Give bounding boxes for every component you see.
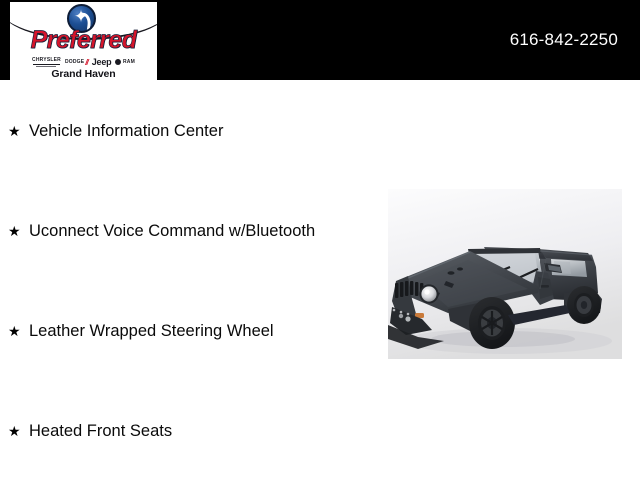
vehicle-photo-illustration (388, 189, 622, 359)
chrysler-wings-icon-secondary (36, 66, 56, 67)
list-item: ★ Vehicle Information Center (0, 100, 380, 200)
list-item: ★ Uconnect Voice Command w/Bluetooth (0, 200, 380, 300)
brand-ram: RAM (115, 59, 135, 65)
dodge-slashes-icon: // (85, 58, 87, 67)
star-bullet-icon: ★ (8, 324, 21, 338)
vehicle-photo[interactable] (388, 189, 622, 359)
star-bullet-icon: ★ (8, 424, 21, 438)
brand-dodge-label: DODGE (65, 59, 84, 65)
brand-logo-row: CHRYSLER DODGE // Jeep RAM (10, 55, 157, 69)
feature-label: Uconnect Voice Command w/Bluetooth (29, 220, 315, 242)
feature-label: Leather Wrapped Steering Wheel (29, 320, 274, 342)
header-bar: ✦ Preferred CHRYSLER DODGE // Jeep RAM G… (0, 0, 640, 80)
dealer-location: Grand Haven (10, 68, 157, 80)
dealer-logo[interactable]: ✦ Preferred CHRYSLER DODGE // Jeep RAM G… (10, 2, 157, 80)
dealer-wordmark: Preferred (10, 27, 157, 53)
brand-chrysler: CHRYSLER (32, 58, 61, 67)
list-item: ★ Leather Wrapped Steering Wheel (0, 300, 380, 400)
brand-jeep: Jeep (92, 57, 112, 67)
ram-badge-icon (115, 59, 121, 65)
brand-ram-label: RAM (123, 59, 135, 65)
star-bullet-icon: ★ (8, 224, 21, 238)
star-bullet-icon: ★ (8, 124, 21, 138)
feature-label: Heated Front Seats (29, 420, 172, 442)
feature-label: Vehicle Information Center (29, 120, 223, 142)
chrysler-wings-icon (33, 64, 60, 65)
dealer-phone-number[interactable]: 616-842-2250 (510, 30, 618, 50)
brand-chrysler-label: CHRYSLER (32, 58, 61, 63)
feature-list: ★ Vehicle Information Center ★ Uconnect … (0, 100, 380, 500)
brand-dodge: DODGE // (65, 58, 88, 67)
list-item: ★ Heated Front Seats (0, 400, 380, 500)
